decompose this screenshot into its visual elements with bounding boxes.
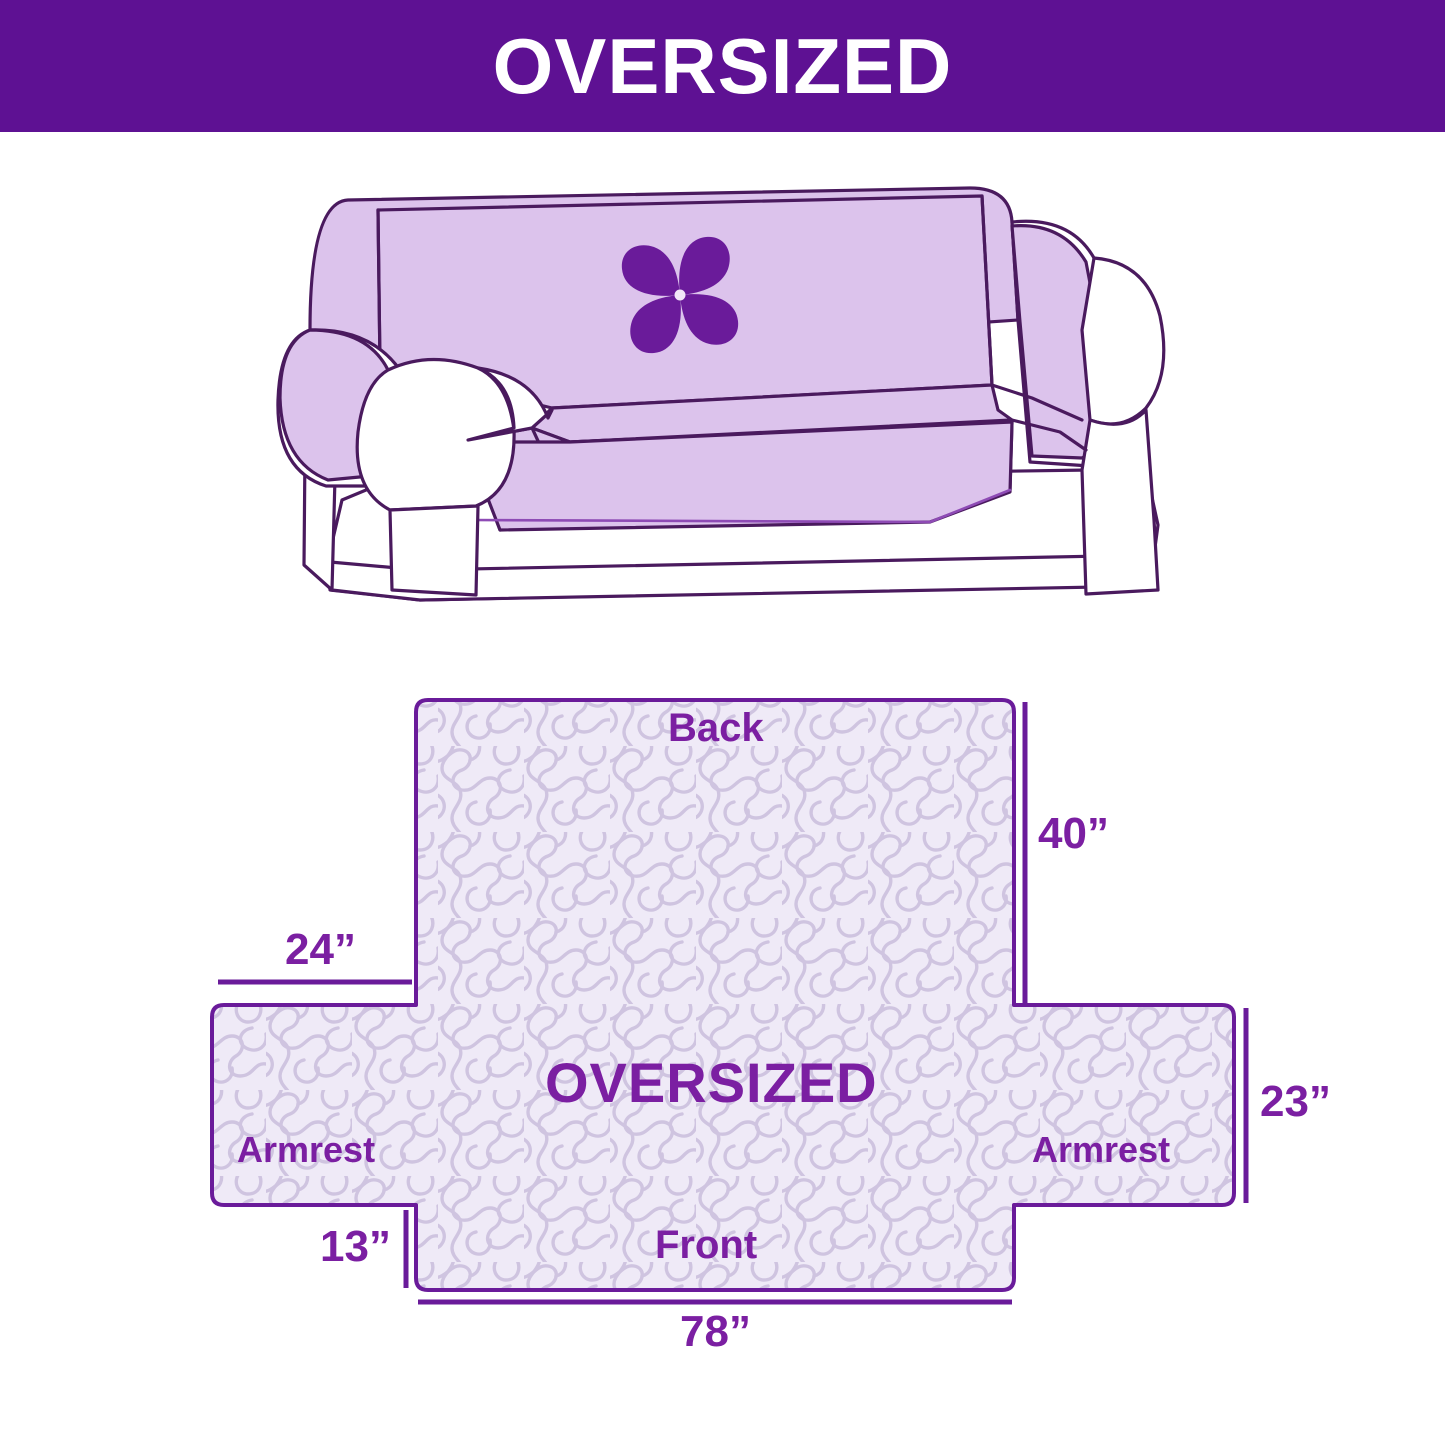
header-banner: OVERSIZED xyxy=(0,0,1445,132)
cover-back-panel xyxy=(212,700,1234,1290)
measurement-78: 78” xyxy=(680,1310,751,1354)
label-armrest-left: Armrest xyxy=(237,1132,375,1168)
measurement-40: 40” xyxy=(1038,812,1109,856)
sofa-illustration: .ln { fill:none; stroke:#4A1A5E; stroke-… xyxy=(270,170,1190,630)
measurement-24: 24” xyxy=(285,928,356,972)
sofa-drawing-svg: .ln { fill:none; stroke:#4A1A5E; stroke-… xyxy=(270,170,1190,630)
label-armrest-right: Armrest xyxy=(1032,1132,1170,1168)
measurement-23: 23” xyxy=(1260,1080,1331,1124)
label-oversized-center: OVERSIZED xyxy=(545,1055,878,1111)
sofa-right-arm-front-column xyxy=(1082,410,1158,594)
label-front: Front xyxy=(655,1225,757,1265)
page-title: OVERSIZED xyxy=(493,27,953,105)
sofa-backrest-seam xyxy=(378,210,380,366)
label-back: Back xyxy=(668,708,764,748)
measurement-13: 13” xyxy=(320,1225,391,1269)
sofa-right-arm-roll xyxy=(1082,258,1164,424)
dimension-diagram: .shape { fill:url(#quilt); stroke:#6A1B9… xyxy=(180,660,1360,1340)
sofa-left-arm-front-column xyxy=(390,506,478,595)
